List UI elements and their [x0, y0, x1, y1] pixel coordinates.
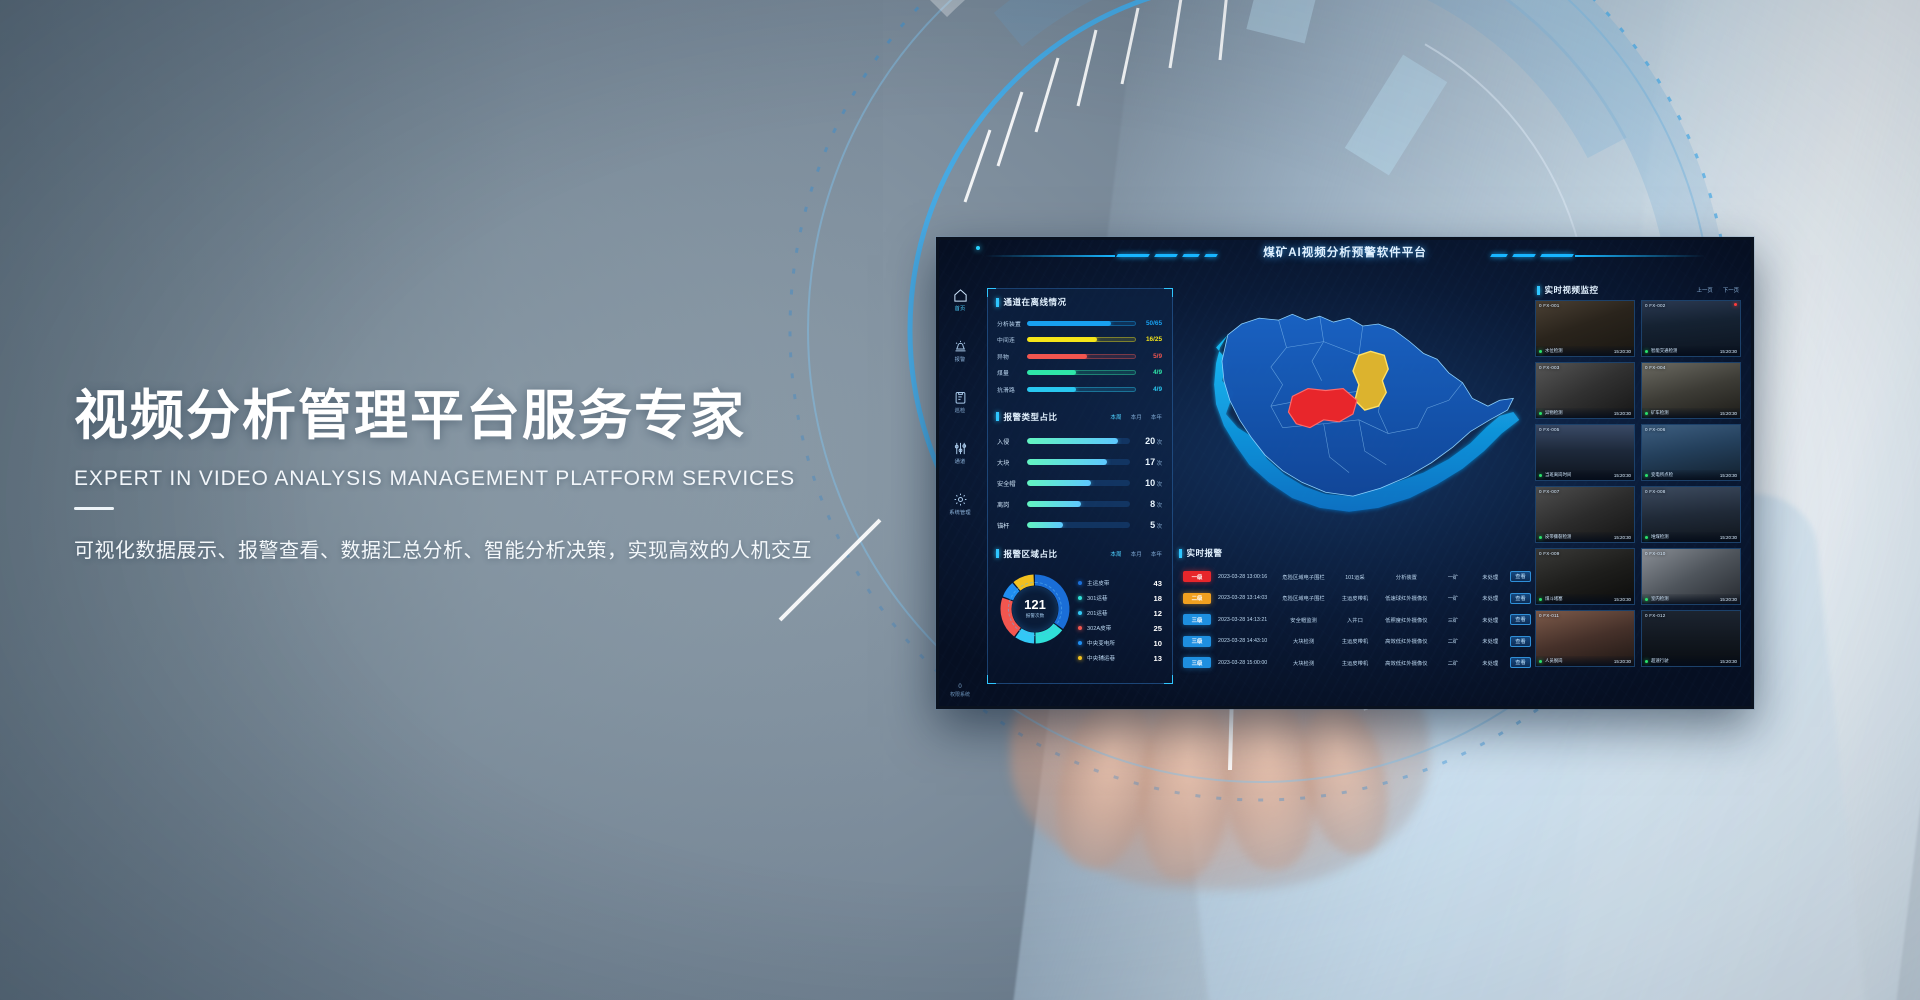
realtime-alarm-title: 实时报警	[1187, 547, 1223, 559]
video-footer: 皮带撕裂检测15:20:30	[1536, 532, 1634, 542]
alarm-type-label: 离岗	[997, 500, 1027, 509]
hero-text-block: 视频分析管理平台服务专家 EXPERT IN VIDEO ANALYSIS MA…	[74, 385, 974, 563]
video-timestamp: 15:20:30	[1614, 659, 1631, 664]
online-status-icon	[1645, 474, 1648, 477]
video-id-label: 0 FX-002	[1645, 303, 1666, 308]
donut-legend-row: 中央辅运巷13	[1078, 651, 1166, 666]
legend-value: 43	[1154, 579, 1166, 588]
dashboard-header: 煤矿AI视频分析预警软件平台	[939, 240, 1751, 270]
section-accent-bar	[996, 298, 999, 307]
channel-bar-fill	[1027, 337, 1097, 342]
hero-divider	[74, 507, 114, 510]
alarm-type-fill	[1027, 501, 1081, 507]
channel-bar-fill	[1027, 321, 1111, 326]
video-footer: 异物检测15:20:30	[1536, 408, 1634, 418]
alarm-type-row: 安全帽10次	[997, 473, 1162, 494]
alarm-area-panel-header: 报警区域占比 本周本月本年	[988, 541, 1172, 564]
online-status-icon	[1645, 350, 1648, 353]
video-panel-title: 实时视频监控	[1545, 284, 1599, 296]
alarm-mine: 一矿	[1436, 573, 1471, 581]
table-row[interactable]: 三级2023-03-28 14:43:10大块检测主运皮带机高效低红外摄像仪二矿…	[1179, 631, 1531, 653]
alarm-type-row: 锚杆5次	[997, 515, 1162, 536]
alarm-type-unit: 次	[1157, 524, 1162, 530]
alarm-area-panel-title: 报警区域占比	[1004, 548, 1058, 560]
sidebar-item-label: 系统管理	[949, 509, 971, 516]
video-grid: 0 FX-001水位检测15:20:300 FX-002智能交通检测15:20:…	[1535, 300, 1741, 667]
channel-bar-label: 煤量	[997, 368, 1027, 377]
alarm-type-tab[interactable]: 本月	[1131, 413, 1142, 421]
alarm-type-row: 离岗8次	[997, 494, 1162, 515]
video-id-label: 0 FX-011	[1539, 613, 1559, 618]
legend-value: 18	[1154, 594, 1166, 603]
dashboard-title: 煤矿AI视频分析预警软件平台	[939, 244, 1751, 260]
donut-legend-row: 301运巷18	[1078, 591, 1166, 606]
alarm-type: 安全帽监测	[1274, 616, 1333, 624]
alarm-type-tab[interactable]: 本周	[1110, 413, 1121, 421]
alarm-type-value: 8次	[1130, 499, 1162, 509]
channel-bar-value: 50/65	[1136, 320, 1162, 327]
sliders-icon	[953, 441, 968, 456]
alarm-status: 未处理	[1470, 659, 1510, 667]
table-row[interactable]: 一级2023-03-28 13:00:16危险区域电子围栏101运采分析装置一矿…	[1179, 566, 1531, 588]
video-tile[interactable]: 0 FX-012超速行驶15:20:30	[1641, 610, 1741, 667]
channel-panel-header: 通道在离线情况	[988, 289, 1172, 312]
alarm-type-track	[1027, 480, 1130, 486]
alarm-status: 未处理	[1470, 637, 1510, 645]
monitor-screen: 煤矿AI视频分析预警软件平台 首页	[936, 237, 1754, 709]
view-button[interactable]: 查看	[1510, 571, 1531, 582]
alarm-location: 101运采	[1333, 573, 1377, 581]
sidebar-item-channel[interactable]: 通道	[939, 432, 981, 474]
channel-bar-value: 16/25	[1136, 336, 1162, 343]
online-status-icon	[1539, 474, 1542, 477]
legend-value: 13	[1154, 654, 1166, 663]
table-row[interactable]: 三级2023-03-28 15:00:00大块检测主运皮带机高效低红外摄像仪二矿…	[1179, 652, 1531, 674]
online-status-icon	[1539, 536, 1542, 539]
video-name: 水位检测	[1545, 348, 1563, 354]
alarm-mine: 一矿	[1436, 594, 1471, 602]
donut-legend-row: 中央变电所10	[1078, 636, 1166, 651]
video-timestamp: 15:20:30	[1614, 349, 1631, 354]
legend-value: 12	[1154, 609, 1166, 618]
video-footer: 室内检测15:20:30	[1642, 594, 1740, 604]
legend-color-dot	[1078, 656, 1082, 660]
video-id-label: 0 FX-006	[1645, 427, 1666, 432]
video-id-label: 0 FX-007	[1539, 489, 1560, 494]
video-name: 矿车检测	[1651, 410, 1669, 416]
video-name: 室内检测	[1651, 596, 1669, 602]
video-name: 变电所点检	[1651, 472, 1673, 478]
video-timestamp: 15:20:30	[1720, 349, 1737, 354]
alarm-status: 未处理	[1470, 573, 1510, 581]
alarm-type-value: 5次	[1130, 520, 1162, 530]
video-id-label: 0 FX-009	[1539, 551, 1560, 556]
sidebar-item-label: 报警	[955, 356, 966, 363]
header-line	[985, 255, 1115, 257]
online-status-icon	[1539, 660, 1542, 663]
video-tile[interactable]: 0 FX-002智能交通检测15:20:30	[1641, 300, 1741, 357]
channel-bar-row: 煤量4/9	[997, 365, 1162, 382]
prev-page-button[interactable]: 上一页	[1697, 286, 1713, 294]
video-footer: 人员脱岗15:20:30	[1536, 656, 1634, 666]
alarm-status: 未处理	[1470, 616, 1510, 624]
channel-bar-track	[1027, 370, 1136, 375]
realtime-alarm-panel: 实时报警 一级2023-03-28 13:00:16危险区域电子围栏101运采分…	[1179, 540, 1531, 686]
donut-legend-row: 主运皮带43	[1078, 576, 1166, 591]
video-pagination: 上一页 下一页	[1697, 286, 1739, 294]
map-svg	[1177, 288, 1529, 538]
online-status-icon	[1539, 412, 1542, 415]
channel-bar-row: 抗滑路4/9	[997, 381, 1162, 398]
alarm-time: 2023-03-28 14:43:10	[1211, 638, 1274, 644]
donut-center-value: 121	[1024, 598, 1046, 611]
legend-color-dot	[1078, 581, 1082, 585]
video-footer: 智能交通检测15:20:30	[1642, 346, 1740, 356]
alarm-device: 高效低红外摄像仪	[1377, 659, 1436, 667]
video-name: 当班离岗时间	[1545, 472, 1571, 478]
video-id-label: 0 FX-010	[1645, 551, 1666, 556]
province-map[interactable]	[1177, 288, 1529, 538]
online-status-icon	[1539, 598, 1542, 601]
alarm-type-row: 入侵20次	[997, 431, 1162, 452]
panel-corner	[987, 675, 996, 684]
next-page-button[interactable]: 下一页	[1723, 286, 1739, 294]
alarm-device: 分析装置	[1377, 573, 1436, 581]
alarm-time: 2023-03-28 13:14:03	[1211, 595, 1274, 601]
alarm-type: 大块检测	[1274, 637, 1333, 645]
video-name: 人员脱岗	[1545, 658, 1563, 664]
channel-panel-title: 通道在离线情况	[1004, 296, 1067, 308]
dashboard: 煤矿AI视频分析预警软件平台 首页	[939, 240, 1751, 706]
realtime-alarm-header: 实时报警	[1179, 540, 1531, 563]
alarm-type-tabs: 本周本月本年	[1110, 413, 1164, 421]
video-timestamp: 15:20:30	[1720, 535, 1737, 540]
panel-corner	[987, 288, 996, 297]
view-button[interactable]: 查看	[1510, 636, 1531, 647]
page-title: 视频分析管理平台服务专家	[74, 385, 974, 449]
alarm-area-tab[interactable]: 本月	[1131, 550, 1142, 558]
legend-label: 主运皮带	[1087, 579, 1154, 587]
sidebar-item-label: 首页	[955, 305, 966, 312]
online-status-icon	[1645, 660, 1648, 663]
channel-bar-row: 中间连16/25	[997, 332, 1162, 349]
alarm-icon	[953, 339, 968, 354]
alarm-type-label: 锚杆	[997, 521, 1027, 530]
video-panel-header: 实时视频监控 上一页 下一页	[1535, 284, 1741, 300]
video-footer: 当班离岗时间15:20:30	[1536, 470, 1634, 480]
alarm-device: 低照度红外摄像仪	[1377, 616, 1436, 624]
channel-bar-label: 中间连	[997, 335, 1027, 344]
legend-label: 301运巷	[1087, 594, 1154, 602]
view-button[interactable]: 查看	[1510, 614, 1531, 625]
section-accent-bar	[1537, 286, 1540, 295]
sidebar-item-label: 巡检	[955, 407, 966, 414]
status-badge: 三级	[1183, 636, 1211, 647]
channel-bar-value: 4/9	[1136, 386, 1162, 393]
table-row[interactable]: 二级2023-03-28 13:14:03危险区域电子围栏主运皮带机低速球红外摄…	[1179, 588, 1531, 610]
alarm-type-unit: 次	[1157, 503, 1162, 509]
channel-bar-track	[1027, 321, 1136, 326]
home-icon	[953, 288, 968, 303]
alarm-type-value: 20次	[1130, 436, 1162, 446]
video-name: 皮带撕裂检测	[1545, 534, 1571, 540]
video-id-label: 0 FX-003	[1539, 365, 1560, 370]
header-dash	[1540, 254, 1574, 257]
video-timestamp: 15:20:30	[1720, 411, 1737, 416]
legend-color-dot	[1078, 626, 1082, 630]
alarm-type-panel-title: 报警类型占比	[1004, 411, 1058, 423]
channel-bar-fill	[1027, 387, 1076, 392]
channel-bar-track	[1027, 387, 1136, 392]
channel-bar-label: 抗滑路	[997, 385, 1027, 394]
clipboard-icon	[953, 390, 968, 405]
alarm-type-bar-list: 入侵20次大块17次安全帽10次离岗8次锚杆5次	[988, 427, 1172, 536]
sidebar-item-alarm[interactable]: 报警	[939, 330, 981, 372]
video-name: 超速行驶	[1651, 658, 1669, 664]
panel-corner	[1164, 288, 1173, 297]
donut-center: 121 报警次数	[1012, 586, 1058, 632]
legend-value: 10	[1154, 639, 1166, 648]
alarm-area-tab[interactable]: 本年	[1151, 550, 1162, 558]
alarm-location: 入井口	[1333, 616, 1377, 624]
online-status-icon	[1645, 412, 1648, 415]
alarm-type: 危险区域电子围栏	[1274, 573, 1333, 581]
alarm-type-fill	[1027, 522, 1063, 528]
header-dash	[1490, 254, 1508, 257]
alarm-type-label: 入侵	[997, 437, 1027, 446]
sidebar-footer: 0 权限系统	[939, 684, 981, 698]
channel-bar-track	[1027, 354, 1136, 359]
legend-color-dot	[1078, 611, 1082, 615]
channel-bar-value: 5/9	[1136, 353, 1162, 360]
video-footer: 变电所点检15:20:30	[1642, 470, 1740, 480]
alarm-type-fill	[1027, 459, 1107, 465]
header-line	[1575, 255, 1705, 257]
video-tile[interactable]: 0 FX-004矿车检测15:20:30	[1641, 362, 1741, 419]
alarm-status: 未处理	[1470, 594, 1510, 602]
video-timestamp: 15:20:30	[1614, 411, 1631, 416]
sidebar-item-inspection[interactable]: 巡检	[939, 381, 981, 423]
video-tile[interactable]: 0 FX-006变电所点检15:20:30	[1641, 424, 1741, 481]
video-id-label: 0 FX-012	[1645, 613, 1666, 618]
video-name: 煤斗堵塞	[1545, 596, 1563, 602]
alarm-type-value: 17次	[1130, 457, 1162, 467]
video-tile[interactable]: 0 FX-001水位检测15:20:30	[1535, 300, 1635, 357]
video-tile[interactable]: 0 FX-007皮带撕裂检测15:20:30	[1535, 486, 1635, 543]
alarm-type-track	[1027, 438, 1130, 444]
alarm-type: 危险区域电子围栏	[1274, 594, 1333, 602]
video-id-label: 0 FX-004	[1645, 365, 1666, 370]
video-timestamp: 15:20:30	[1614, 535, 1631, 540]
alarm-type-panel-header: 报警类型占比 本周本月本年	[988, 404, 1172, 427]
channel-bar-fill	[1027, 354, 1087, 359]
alarm-mine: 三矿	[1436, 616, 1471, 624]
video-tile[interactable]: 0 FX-003异物检测15:20:30	[1535, 362, 1635, 419]
online-status-icon	[1539, 350, 1542, 353]
view-button[interactable]: 查看	[1510, 593, 1531, 604]
alarm-type-unit: 次	[1157, 482, 1162, 488]
donut-legend-row: 302A皮带25	[1078, 621, 1166, 636]
sidebar-footer-count: 0	[939, 684, 981, 690]
channel-bar-list: 分析装置50/65中间连16/25异物5/9煤量4/9抗滑路4/9	[988, 312, 1172, 398]
alarm-time: 2023-03-28 13:00:16	[1211, 574, 1274, 580]
video-footer: 矿车检测15:20:30	[1642, 408, 1740, 418]
status-badge: 一级	[1183, 571, 1211, 582]
video-tile[interactable]: 0 FX-011人员脱岗15:20:30	[1535, 610, 1635, 667]
video-tile[interactable]: 0 FX-009煤斗堵塞15:20:30	[1535, 548, 1635, 605]
donut-center-label: 报警次数	[1026, 613, 1044, 619]
alarm-type-unit: 次	[1157, 461, 1162, 467]
video-timestamp: 15:20:30	[1720, 597, 1737, 602]
alarm-type-tab[interactable]: 本年	[1151, 413, 1162, 421]
video-tile[interactable]: 0 FX-010室内检测15:20:30	[1641, 548, 1741, 605]
alarm-time: 2023-03-28 14:13:21	[1211, 617, 1274, 623]
video-monitor-panel: 实时视频监控 上一页 下一页 0 FX-001水位检测15:20:300 FX-…	[1535, 284, 1741, 692]
channel-bar-label: 异物	[997, 352, 1027, 361]
donut-legend-row: 201运巷12	[1078, 606, 1166, 621]
channel-bar-track	[1027, 337, 1136, 342]
sidebar-item-home[interactable]: 首页	[939, 279, 981, 321]
alarm-type-track	[1027, 459, 1130, 465]
alarm-type-fill	[1027, 480, 1091, 486]
donut-legend: 主运皮带43301运巷18201运巷12302A皮带25中央变电所10中央辅运巷…	[1078, 572, 1166, 666]
alarm-type-row: 大块17次	[997, 452, 1162, 473]
alarm-location: 主运皮带机	[1333, 659, 1377, 667]
section-accent-bar	[1179, 549, 1182, 558]
alarm-type: 大块检测	[1274, 659, 1333, 667]
video-timestamp: 15:20:30	[1720, 659, 1737, 664]
alarm-area-chart-wrap: 121 报警次数 主运皮带43301运巷18201运巷12302A皮带25中央变…	[988, 564, 1172, 666]
alarm-mine: 二矿	[1436, 637, 1471, 645]
alarm-area-tab[interactable]: 本周	[1110, 550, 1121, 558]
video-timestamp: 15:20:30	[1614, 473, 1631, 478]
legend-color-dot	[1078, 596, 1082, 600]
hero-subtitle: EXPERT IN VIDEO ANALYSIS MANAGEMENT PLAT…	[74, 467, 974, 491]
online-status-icon	[1645, 598, 1648, 601]
channel-bar-row: 分析装置50/65	[997, 315, 1162, 332]
hero-description: 可视化数据展示、报警查看、数据汇总分析、智能分析决策，实现高效的人机交互	[74, 534, 974, 563]
alarm-device: 高效低红外摄像仪	[1377, 637, 1436, 645]
video-tile[interactable]: 0 FX-005当班离岗时间15:20:30	[1535, 424, 1635, 481]
alarm-type-track	[1027, 522, 1130, 528]
video-id-label: 0 FX-008	[1645, 489, 1666, 494]
video-name: 堆煤检测	[1651, 534, 1669, 540]
video-name: 异物检测	[1545, 410, 1563, 416]
legend-label: 中央辅运巷	[1087, 654, 1154, 662]
header-dash	[1116, 254, 1150, 257]
video-id-label: 0 FX-001	[1539, 303, 1560, 308]
status-badge: 二级	[1183, 593, 1211, 604]
channel-bar-row: 异物5/9	[997, 348, 1162, 365]
header-dash	[1204, 254, 1218, 257]
realtime-alarm-table: 一级2023-03-28 13:00:16危险区域电子围栏101运采分析装置一矿…	[1179, 566, 1531, 674]
alarm-location: 主运皮带机	[1333, 594, 1377, 602]
alarm-area-tabs: 本周本月本年	[1110, 550, 1164, 558]
online-status-icon	[1645, 536, 1648, 539]
alarm-type-track	[1027, 501, 1130, 507]
section-accent-bar	[996, 549, 999, 558]
table-row[interactable]: 三级2023-03-28 14:13:21安全帽监测入井口低照度红外摄像仪三矿未…	[1179, 609, 1531, 631]
video-timestamp: 15:20:30	[1720, 473, 1737, 478]
sidebar: 首页 报警 巡检	[939, 270, 981, 706]
video-name: 智能交通检测	[1651, 348, 1677, 354]
video-footer: 水位检测15:20:30	[1536, 346, 1634, 356]
alarm-type-label: 安全帽	[997, 479, 1027, 488]
alarm-location: 主运皮带机	[1333, 637, 1377, 645]
gear-icon	[953, 492, 968, 507]
video-footer: 煤斗堵塞15:20:30	[1536, 594, 1634, 604]
status-badge: 三级	[1183, 657, 1211, 668]
sidebar-footer-label: 权限系统	[939, 691, 981, 698]
donut-chart: 121 报警次数	[998, 572, 1072, 646]
channel-bar-fill	[1027, 370, 1076, 375]
alarm-type-unit: 次	[1157, 440, 1162, 446]
video-footer: 超速行驶15:20:30	[1642, 656, 1740, 666]
sidebar-item-label: 通道	[955, 458, 966, 465]
header-dash	[1512, 254, 1536, 257]
channel-bar-label: 分析装置	[997, 319, 1027, 328]
legend-value: 25	[1154, 624, 1166, 633]
legend-label: 201运巷	[1087, 609, 1154, 617]
video-footer: 堆煤检测15:20:30	[1642, 532, 1740, 542]
sidebar-item-system[interactable]: 系统管理	[939, 483, 981, 525]
section-accent-bar	[996, 412, 999, 421]
legend-label: 302A皮带	[1087, 624, 1154, 632]
view-button[interactable]: 查看	[1510, 657, 1531, 668]
alarm-time: 2023-03-28 15:00:00	[1211, 660, 1274, 666]
video-id-label: 0 FX-005	[1539, 427, 1560, 432]
alarm-mine: 二矿	[1436, 659, 1471, 667]
video-timestamp: 15:20:30	[1614, 597, 1631, 602]
recording-indicator-icon	[1734, 303, 1737, 306]
video-tile[interactable]: 0 FX-008堆煤检测15:20:30	[1641, 486, 1741, 543]
header-dash	[1154, 254, 1178, 257]
alarm-type-value: 10次	[1130, 478, 1162, 488]
header-dot	[976, 246, 980, 250]
legend-color-dot	[1078, 641, 1082, 645]
left-panel: 通道在离线情况 分析装置50/65中间连16/25异物5/9煤量4/9抗滑路4/…	[987, 288, 1173, 684]
alarm-type-label: 大块	[997, 458, 1027, 467]
alarm-type-fill	[1027, 438, 1118, 444]
status-badge: 三级	[1183, 614, 1211, 625]
panel-corner	[1164, 675, 1173, 684]
header-dash	[1182, 254, 1200, 257]
alarm-device: 低速球红外摄像仪	[1377, 594, 1436, 602]
legend-label: 中央变电所	[1087, 639, 1154, 647]
channel-bar-value: 4/9	[1136, 369, 1162, 376]
